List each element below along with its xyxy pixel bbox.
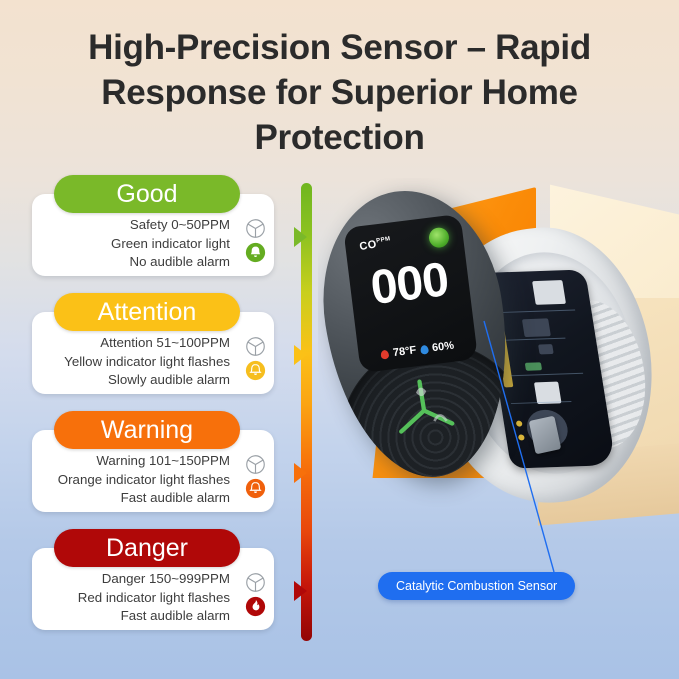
range-line: Warning 101~150PPM [40, 452, 230, 471]
status-pill: Good [54, 175, 240, 213]
green-leaf-indicator [428, 226, 450, 248]
sensor-y-indicator-icon [372, 359, 476, 458]
humidity-icon [420, 344, 429, 354]
poster-canvas: High-Precision Sensor – Rapid Response f… [0, 0, 679, 679]
card-icons [245, 336, 266, 381]
device-illustration: COPPM 000 78°F 60% Cataly [318, 178, 679, 679]
gas-sensor-icon [245, 454, 266, 475]
bell-icon [245, 478, 266, 499]
status-level-danger: Danger 150~999PPM Red indicator light fl… [32, 529, 284, 647]
device-screen: COPPM 000 78°F 60% [343, 214, 478, 373]
indicator-line: Red indicator light flashes [40, 589, 230, 608]
alarm-line: Fast audible alarm [40, 489, 230, 508]
indicator-line: Orange indicator light flashes [40, 471, 230, 490]
humidity-value: 60% [431, 340, 454, 355]
ppm-reading: 000 [356, 255, 463, 315]
gas-sensor-icon [245, 336, 266, 357]
environment-readout: 78°F 60% [364, 338, 471, 363]
level-arrow [294, 581, 307, 601]
gas-type-label: COPPM [359, 236, 393, 253]
status-level-good: Safety 0~50PPM Green indicator light No … [32, 175, 284, 293]
status-pill: Attention [54, 293, 240, 331]
flame-icon [245, 596, 266, 617]
status-pill-label: Attention [98, 298, 197, 327]
bell-icon [245, 242, 266, 263]
level-arrow [294, 345, 307, 365]
page-title: High-Precision Sensor – Rapid Response f… [0, 26, 679, 160]
range-line: Safety 0~50PPM [40, 216, 230, 235]
level-arrow [294, 227, 307, 247]
gas-unit-text: PPM [376, 236, 391, 244]
temperature-value: 78°F [392, 344, 417, 359]
status-pill-label: Good [116, 180, 177, 209]
severity-gradient-bar [301, 183, 312, 641]
alarm-line: Slowly audible alarm [40, 371, 230, 390]
callout-label: Catalytic Combustion Sensor [378, 572, 575, 600]
status-level-warning: Warning 101~150PPM Orange indicator ligh… [32, 411, 284, 529]
status-pill-label: Danger [106, 534, 188, 563]
range-line: Danger 150~999PPM [40, 570, 230, 589]
temperature-icon [381, 349, 390, 359]
status-pill: Danger [54, 529, 240, 567]
level-arrow [294, 463, 307, 483]
gas-sensor-icon [245, 218, 266, 239]
status-pill-label: Warning [101, 416, 193, 445]
gas-label-text: CO [359, 238, 378, 253]
range-line: Attention 51~100PPM [40, 334, 230, 353]
status-level-attention: Attention 51~100PPM Yellow indicator lig… [32, 293, 284, 411]
card-icons [245, 572, 266, 617]
callout-text: Catalytic Combustion Sensor [396, 579, 557, 593]
gas-sensor-icon [245, 572, 266, 593]
indicator-line: Green indicator light [40, 235, 230, 254]
indicator-line: Yellow indicator light flashes [40, 353, 230, 372]
status-level-list: Safety 0~50PPM Green indicator light No … [32, 175, 284, 647]
bell-icon [245, 360, 266, 381]
card-icons [245, 218, 266, 263]
status-pill: Warning [54, 411, 240, 449]
alarm-line: Fast audible alarm [40, 607, 230, 626]
card-icons [245, 454, 266, 499]
alarm-line: No audible alarm [40, 253, 230, 272]
